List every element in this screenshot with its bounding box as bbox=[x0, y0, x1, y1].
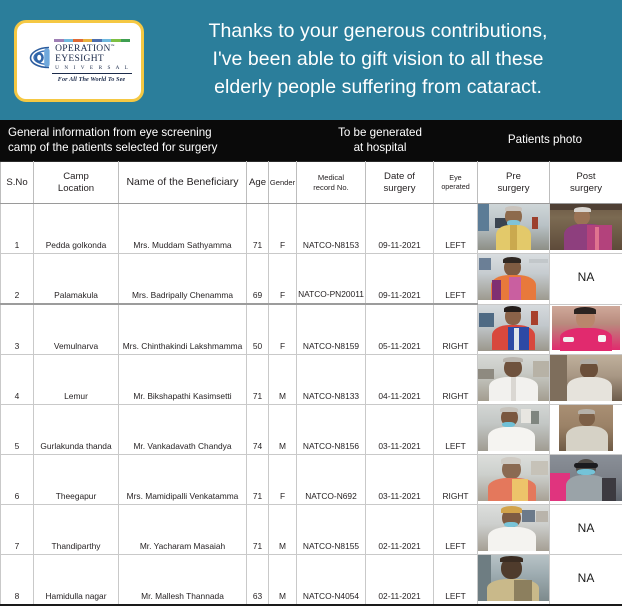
table-row[interactable]: 8 Hamidulla nagar Mr. Mallesh Thannada 6… bbox=[1, 555, 622, 606]
cell-gender: F bbox=[269, 455, 297, 505]
cell-gender: M bbox=[269, 505, 297, 555]
cell-gender: F bbox=[269, 204, 297, 254]
cell-beneficiary-name: Mr. Mallesh Thannada bbox=[119, 555, 247, 606]
cell-camp-location: Thandiparthy bbox=[34, 505, 119, 555]
logo-divider bbox=[52, 73, 132, 74]
group-header-general-info: General information from eye screening c… bbox=[8, 120, 288, 161]
cell-eye-operated: LEFT bbox=[434, 254, 478, 305]
organization-logo: OPERATION™ EYESIGHT U N I V E R S A L Fo… bbox=[14, 20, 144, 102]
column-header-date-of-surgery: Date ofsurgery bbox=[366, 162, 434, 204]
cell-post-surgery-photo[interactable]: NA bbox=[550, 555, 622, 606]
post-surgery-na-label: NA bbox=[550, 555, 622, 601]
cell-date-of-surgery: 03-11-2021 bbox=[366, 455, 434, 505]
group-header-hospital-line1: To be generated bbox=[338, 126, 422, 141]
cell-date-of-surgery: 04-11-2021 bbox=[366, 355, 434, 405]
cell-camp-location: Lemur bbox=[34, 355, 119, 405]
patient-photo bbox=[550, 305, 622, 351]
cell-eye-operated: LEFT bbox=[434, 204, 478, 254]
page-root: OPERATION™ EYESIGHT U N I V E R S A L Fo… bbox=[0, 0, 622, 568]
cell-date-of-surgery: 05-11-2021 bbox=[366, 304, 434, 355]
cell-age: 63 bbox=[247, 555, 269, 606]
cell-age: 71 bbox=[247, 505, 269, 555]
header-banner: OPERATION™ EYESIGHT U N I V E R S A L Fo… bbox=[0, 0, 622, 120]
patient-photo bbox=[550, 405, 622, 451]
cell-post-surgery-photo[interactable]: NA bbox=[550, 505, 622, 555]
banner-message: Thanks to your generous contributions, I… bbox=[144, 18, 610, 101]
cell-medical-record-no: NATCO-N8153 bbox=[297, 204, 366, 254]
cell-post-surgery-photo[interactable] bbox=[550, 455, 622, 505]
cell-gender: F bbox=[269, 304, 297, 355]
cell-beneficiary-name: Mrs. Chinthakindi Lakshmamma bbox=[119, 304, 247, 355]
cell-beneficiary-name: Mr. Yacharam Masaiah bbox=[119, 505, 247, 555]
column-header-post-surgery: Postsurgery bbox=[550, 162, 622, 204]
table-row[interactable]: 4 Lemur Mr. Bikshapathi Kasimsetti 71 M … bbox=[1, 355, 622, 405]
cell-sno: 3 bbox=[1, 304, 34, 355]
group-header-general-line2: camp of the patients selected for surger… bbox=[8, 141, 217, 156]
group-header-hospital-line2: at hospital bbox=[338, 141, 422, 156]
cell-sno: 5 bbox=[1, 405, 34, 455]
column-header-sno: S.No bbox=[1, 162, 34, 204]
cell-eye-operated: LEFT bbox=[434, 405, 478, 455]
cell-age: 71 bbox=[247, 455, 269, 505]
logo-name-line2: EYESIGHT bbox=[55, 55, 130, 65]
cell-medical-record-no: NATCO-N8159 bbox=[297, 304, 366, 355]
patient-photo bbox=[478, 505, 549, 551]
cell-medical-record-no: NATCO-N8156 bbox=[297, 405, 366, 455]
patient-photo bbox=[550, 355, 622, 401]
banner-message-line-3: elderly people suffering from cataract. bbox=[150, 74, 606, 102]
group-header-hospital: To be generated at hospital bbox=[290, 120, 470, 161]
cell-pre-surgery-photo[interactable] bbox=[478, 204, 550, 254]
cell-medical-record-no: NATCO-N8133 bbox=[297, 355, 366, 405]
table-head: S.No CampLocation Name of the Beneficiar… bbox=[1, 162, 622, 204]
column-header-pre-surgery: Presurgery bbox=[478, 162, 550, 204]
logo-tagline: For All The World To See bbox=[58, 76, 126, 83]
column-header-camp-location: CampLocation bbox=[34, 162, 119, 204]
cell-age: 50 bbox=[247, 304, 269, 355]
table-row[interactable]: 5 Gurlakunda thanda Mr. Vankadavath Chan… bbox=[1, 405, 622, 455]
cell-pre-surgery-photo[interactable] bbox=[478, 304, 550, 355]
table-row[interactable]: 3 Vemulnarva Mrs. Chinthakindi Lakshmamm… bbox=[1, 304, 622, 355]
cell-camp-location: Theegapur bbox=[34, 455, 119, 505]
cell-gender: M bbox=[269, 555, 297, 606]
cell-medical-record-no: NATCO-N4054 bbox=[297, 555, 366, 606]
patient-photo bbox=[478, 455, 549, 501]
cell-medical-record-no: NATCO-PN20011 bbox=[297, 254, 366, 305]
cell-date-of-surgery: 03-11-2021 bbox=[366, 405, 434, 455]
cell-sno: 4 bbox=[1, 355, 34, 405]
cell-date-of-surgery: 09-11-2021 bbox=[366, 204, 434, 254]
cell-camp-location: Vemulnarva bbox=[34, 304, 119, 355]
column-header-medical-record-no: Medicalrecord No. bbox=[297, 162, 366, 204]
cell-pre-surgery-photo[interactable] bbox=[478, 455, 550, 505]
cell-eye-operated: RIGHT bbox=[434, 304, 478, 355]
cell-beneficiary-name: Mr. Bikshapathi Kasimsetti bbox=[119, 355, 247, 405]
cell-medical-record-no: NATCO-N8155 bbox=[297, 505, 366, 555]
table-row[interactable]: 1 Pedda golkonda Mrs. Muddam Sathyamma 7… bbox=[1, 204, 622, 254]
patient-photo bbox=[478, 204, 549, 250]
cell-age: 71 bbox=[247, 204, 269, 254]
cell-pre-surgery-photo[interactable] bbox=[478, 555, 550, 606]
cell-gender: F bbox=[269, 254, 297, 305]
cell-gender: M bbox=[269, 355, 297, 405]
table-header-row: S.No CampLocation Name of the Beneficiar… bbox=[1, 162, 622, 204]
cell-pre-surgery-photo[interactable] bbox=[478, 254, 550, 305]
cell-post-surgery-photo[interactable] bbox=[550, 204, 622, 254]
cell-sno: 7 bbox=[1, 505, 34, 555]
group-header-photo-line1: Patients photo bbox=[508, 133, 582, 148]
logo-name-line3: U N I V E R S A L bbox=[55, 66, 130, 71]
patient-photo bbox=[550, 204, 622, 250]
column-header-eye-operated: Eyeoperated bbox=[434, 162, 478, 204]
patient-photo bbox=[478, 555, 549, 601]
cell-sno: 8 bbox=[1, 555, 34, 606]
cell-post-surgery-photo[interactable] bbox=[550, 304, 622, 355]
table-row[interactable]: 7 Thandiparthy Mr. Yacharam Masaiah 71 M… bbox=[1, 505, 622, 555]
column-header-age: Age bbox=[247, 162, 269, 204]
cell-beneficiary-name: Mrs. Mamidipalli Venkatamma bbox=[119, 455, 247, 505]
cell-sno: 2 bbox=[1, 254, 34, 305]
post-surgery-na-label: NA bbox=[550, 505, 622, 551]
cell-gender: M bbox=[269, 405, 297, 455]
logo-colorbar bbox=[54, 39, 130, 42]
patient-photo bbox=[478, 355, 549, 401]
patient-photo bbox=[478, 305, 549, 351]
table-row[interactable]: 2 Palamakula Mrs. Badripally Chenamma 69… bbox=[1, 254, 622, 305]
cell-eye-operated: RIGHT bbox=[434, 455, 478, 505]
cell-camp-location: Hamidulla nagar bbox=[34, 555, 119, 606]
eye-icon bbox=[28, 45, 52, 70]
banner-message-line-2: I've been able to gift vision to all the… bbox=[150, 46, 606, 74]
patient-photo bbox=[550, 455, 622, 501]
cell-eye-operated: LEFT bbox=[434, 555, 478, 606]
cell-age: 74 bbox=[247, 405, 269, 455]
cell-pre-surgery-photo[interactable] bbox=[478, 505, 550, 555]
cell-beneficiary-name: Mr. Vankadavath Chandya bbox=[119, 405, 247, 455]
cell-date-of-surgery: 09-11-2021 bbox=[366, 254, 434, 305]
cell-post-surgery-photo[interactable] bbox=[550, 355, 622, 405]
cell-date-of-surgery: 02-11-2021 bbox=[366, 505, 434, 555]
logo-name-line1: OPERATION™ bbox=[55, 44, 130, 55]
column-header-gender: Gender bbox=[269, 162, 297, 204]
cell-sno: 1 bbox=[1, 204, 34, 254]
table-row[interactable]: 6 Theegapur Mrs. Mamidipalli Venkatamma … bbox=[1, 455, 622, 505]
cell-sno: 6 bbox=[1, 455, 34, 505]
cell-post-surgery-photo[interactable] bbox=[550, 405, 622, 455]
post-surgery-na-label: NA bbox=[550, 254, 622, 300]
cell-post-surgery-photo[interactable]: NA bbox=[550, 254, 622, 305]
cell-age: 71 bbox=[247, 355, 269, 405]
cell-beneficiary-name: Mrs. Badripally Chenamma bbox=[119, 254, 247, 305]
cell-pre-surgery-photo[interactable] bbox=[478, 405, 550, 455]
cell-beneficiary-name: Mrs. Muddam Sathyamma bbox=[119, 204, 247, 254]
table-group-header: General information from eye screening c… bbox=[0, 120, 622, 161]
cell-eye-operated: RIGHT bbox=[434, 355, 478, 405]
cell-medical-record-no: NATCO-N692 bbox=[297, 455, 366, 505]
cell-pre-surgery-photo[interactable] bbox=[478, 355, 550, 405]
cell-camp-location: Pedda golkonda bbox=[34, 204, 119, 254]
cell-age: 69 bbox=[247, 254, 269, 305]
cell-camp-location: Palamakula bbox=[34, 254, 119, 305]
cell-camp-location: Gurlakunda thanda bbox=[34, 405, 119, 455]
banner-message-line-1: Thanks to your generous contributions, bbox=[150, 18, 606, 46]
patient-photo bbox=[478, 254, 549, 300]
cell-eye-operated: LEFT bbox=[434, 505, 478, 555]
cell-date-of-surgery: 02-11-2021 bbox=[366, 555, 434, 606]
column-header-beneficiary-name: Name of the Beneficiary bbox=[119, 162, 247, 204]
group-header-general-line1: General information from eye screening bbox=[8, 126, 217, 141]
patient-photo bbox=[478, 405, 549, 451]
patients-table: S.No CampLocation Name of the Beneficiar… bbox=[0, 161, 622, 606]
group-header-patients-photo: Patients photo bbox=[468, 120, 622, 161]
table-body: 1 Pedda golkonda Mrs. Muddam Sathyamma 7… bbox=[1, 204, 622, 606]
